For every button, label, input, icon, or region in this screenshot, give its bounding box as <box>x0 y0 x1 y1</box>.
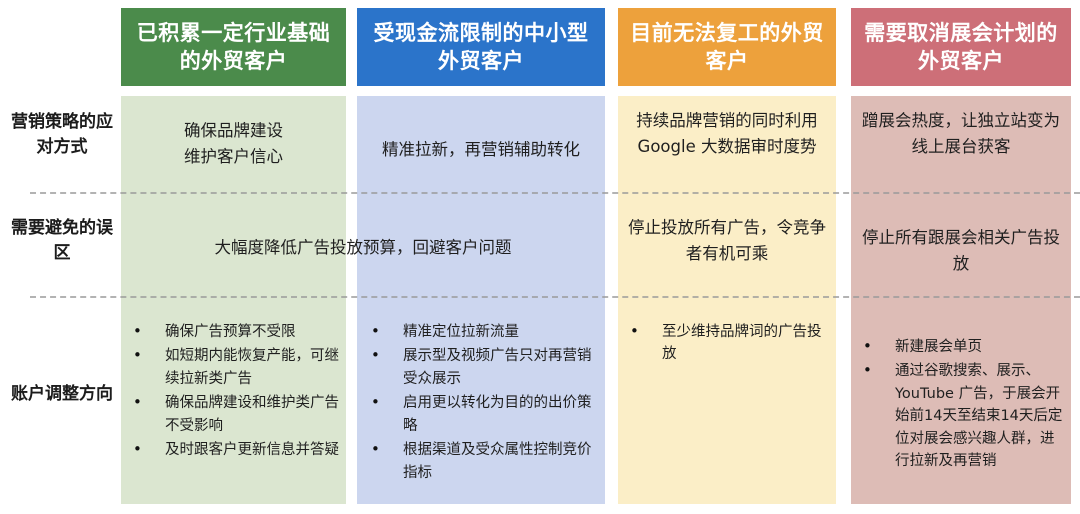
cell-strategy-col3: 持续品牌营销的同时利用Google 大数据审时度势 <box>618 108 836 159</box>
column-header-2: 受现金流限制的中小型外贸客户 <box>357 8 605 86</box>
bullet-item: 确保品牌建设和维护类广告不受影响 <box>127 392 341 437</box>
bullet-item: 展示型及视频广告只对再营销受众展示 <box>365 345 599 390</box>
row-label-pitfalls: 需要避免的误区 <box>6 216 118 265</box>
cell-strategy-col4: 蹭展会热度，让独立站变为线上展台获客 <box>851 108 1071 159</box>
bullet-item: 启用更以转化为目的的出价策略 <box>365 392 599 437</box>
bullet-item: 及时跟客户更新信息并答疑 <box>127 439 341 461</box>
bullet-item: 新建展会单页 <box>857 336 1065 358</box>
cell-strategy-col1: 确保品牌建设维护客户信心 <box>121 118 346 169</box>
bullet-item: 精准定位拉新流量 <box>365 321 599 343</box>
cell-pitfalls-col3: 停止投放所有广告，令竞争者有机可乘 <box>618 215 836 266</box>
comparison-matrix: 已积累一定行业基础的外贸客户 受现金流限制的中小型外贸客户 目前无法复工的外贸客… <box>0 0 1080 514</box>
bullet-list-col3: 至少维持品牌词的广告投放 <box>624 321 830 368</box>
bullet-list-col1: 确保广告预算不受限如短期内能恢复产能，可继续拉新类广告确保品牌建设和维护类广告不… <box>127 321 341 464</box>
bullet-item: 确保广告预算不受限 <box>127 321 341 343</box>
cell-strategy-col2: 精准拉新，再营销辅助转化 <box>357 137 605 163</box>
column-header-1: 已积累一定行业基础的外贸客户 <box>121 8 346 86</box>
cell-pitfalls-col1-col2-merged: 大幅度降低广告投放预算，回避客户问题 <box>121 235 605 261</box>
row-separator-2 <box>30 296 1080 298</box>
bullet-item: 根据渠道及受众属性控制竞价指标 <box>365 439 599 484</box>
cell-pitfalls-col4: 停止所有跟展会相关广告投放 <box>851 225 1071 276</box>
row-label-account: 账户调整方向 <box>6 382 118 407</box>
column-header-3: 目前无法复工的外贸客户 <box>618 8 836 86</box>
row-separator-1 <box>30 192 1080 194</box>
bullet-item: 如短期内能恢复产能，可继续拉新类广告 <box>127 345 341 390</box>
row-label-strategy: 营销策略的应对方式 <box>6 110 118 159</box>
bullet-item: 通过谷歌搜索、展示、YouTube 广告，于展会开始前14天至结束14天后定位对… <box>857 360 1065 472</box>
bullet-list-col4: 新建展会单页通过谷歌搜索、展示、YouTube 广告，于展会开始前14天至结束1… <box>857 336 1065 475</box>
bullet-list-col2: 精准定位拉新流量展示型及视频广告只对再营销受众展示启用更以转化为目的的出价策略根… <box>365 321 599 486</box>
column-header-4: 需要取消展会计划的外贸客户 <box>851 8 1071 86</box>
bullet-item: 至少维持品牌词的广告投放 <box>624 321 830 366</box>
